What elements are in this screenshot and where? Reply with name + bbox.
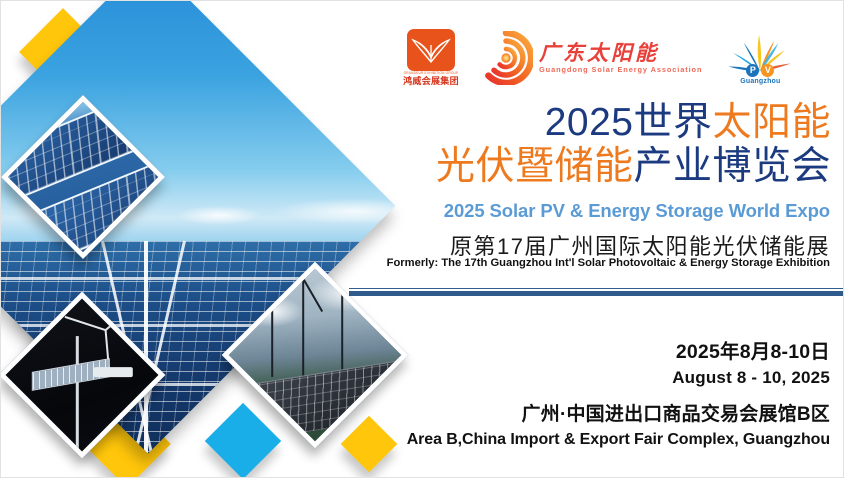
pv-letters: P V: [724, 64, 796, 77]
pv-guangzhou-text: P V Guangzhou: [724, 64, 796, 86]
divider-thin-line: [349, 288, 843, 289]
pv-city-label: Guangzhou: [724, 77, 796, 86]
cyan-diamond-bottom: [205, 403, 281, 478]
pv-letter-v: V: [761, 64, 774, 77]
logo-grandeur-exhibition-group: GRANDEUR EXHIBITION GROUP 鸿威会展集团: [405, 29, 457, 87]
event-date-chinese: 2025年8月8-10日: [360, 335, 830, 364]
event-date-english: August 8 - 10, 2025: [360, 368, 830, 388]
turbine-blade: [64, 315, 105, 330]
turbine-mast: [271, 294, 273, 377]
solar-swirl-icon: [479, 31, 533, 85]
pv-letter-p: P: [746, 64, 759, 77]
light-pole: [76, 336, 79, 449]
lamp-head: [94, 367, 133, 377]
title-line-1-orange: 太阳能: [712, 101, 831, 144]
title-line-2-orange: 光伏暨储能: [436, 145, 634, 188]
subtitle-english: 2025 Solar PV & Energy Storage World Exp…: [360, 200, 830, 222]
logo-pv-guangzhou: P V Guangzhou: [724, 29, 796, 87]
exhibition-banner: GRANDEUR EXHIBITION GROUP 鸿威会展集团: [0, 0, 844, 478]
headline-block: 2025世界太阳能 光伏暨储能产业博览会: [361, 101, 831, 189]
section-divider: [349, 288, 843, 296]
logo-gsea-text: 广东太阳能 Guangdong Solar Energy Association: [539, 41, 702, 75]
logo-gsea-chinese: 广东太阳能: [539, 41, 702, 65]
turbine-mast: [341, 263, 343, 377]
aisle-center: [144, 241, 148, 453]
event-venue-english: Area B,China Import & Export Fair Comple…: [340, 431, 830, 449]
panel-row-divider: [0, 277, 395, 280]
title-line-1: 2025世界太阳能: [361, 101, 831, 145]
title-line-1-blue: 2025世界: [545, 101, 713, 144]
event-venue-chinese: 广州·中国进出口商品交易会展馆B区: [360, 399, 830, 426]
turbine-mast: [302, 276, 304, 377]
divider-thick-bar: [349, 291, 843, 296]
logo-guangdong-solar-energy-association: 广东太阳能 Guangdong Solar Energy Association: [479, 31, 702, 85]
logo-row: GRANDEUR EXHIBITION GROUP 鸿威会展集团: [405, 27, 796, 89]
title-line-2-blue: 产业博览会: [633, 145, 831, 188]
logo-grandeur-chinese: 鸿威会展集团: [403, 76, 459, 87]
title-line-2: 光伏暨储能产业博览会: [361, 145, 831, 189]
logo-gsea-english: Guangdong Solar Energy Association: [539, 65, 702, 75]
former-name-english: Formerly: The 17th Guangzhou Int'l Solar…: [350, 257, 830, 269]
wings-w-icon: [407, 29, 455, 71]
